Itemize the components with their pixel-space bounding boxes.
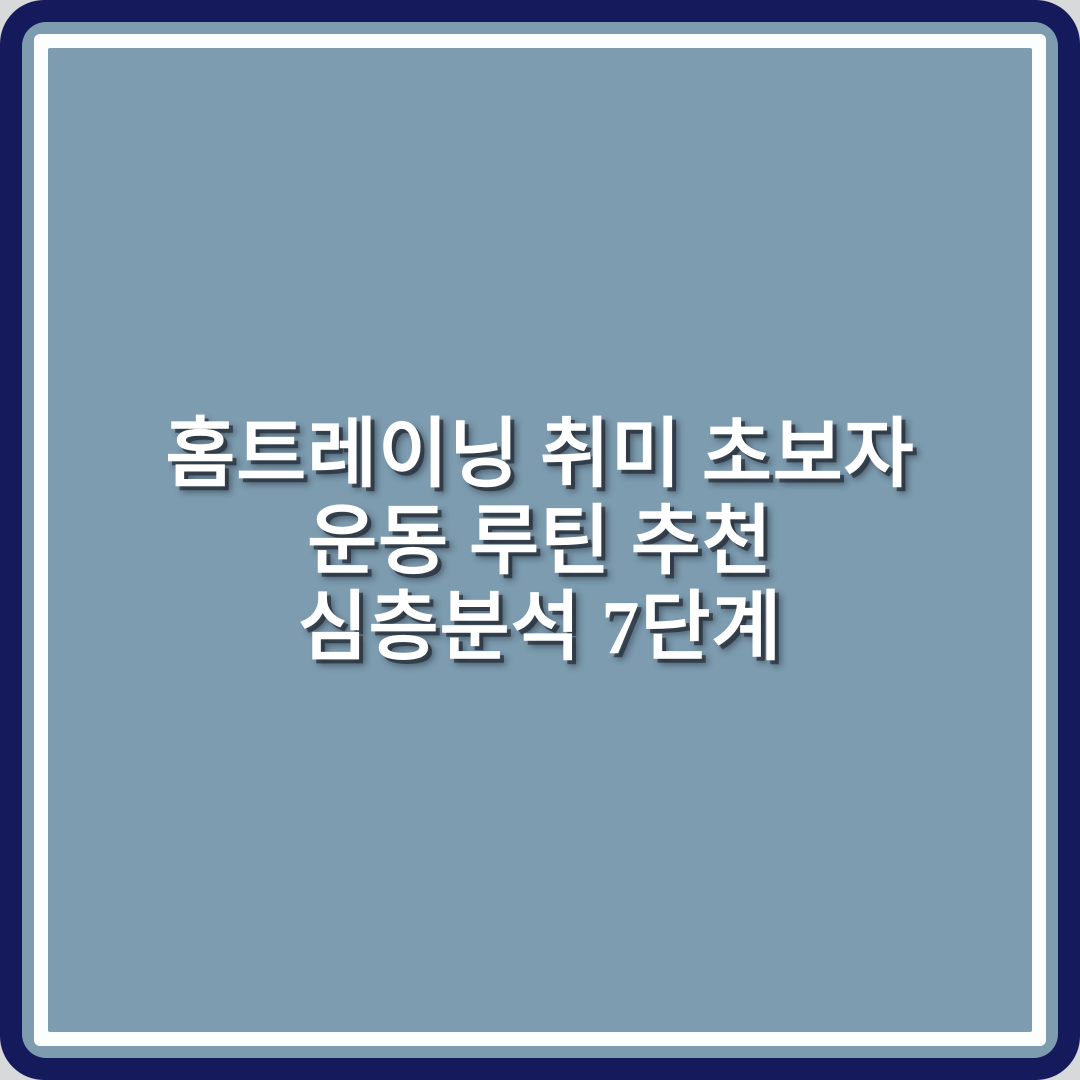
title-line-3: 심층분석 7단계 — [74, 585, 1006, 672]
title-line-1: 홈트레이닝 취미 초보자 — [74, 412, 1006, 499]
card-inner-canvas: 홈트레이닝 취미 초보자 운동 루틴 추천 심층분석 7단계 — [48, 48, 1032, 1032]
title-line-2: 운동 루틴 추천 — [74, 499, 1006, 586]
card-mat-band: 홈트레이닝 취미 초보자 운동 루틴 추천 심층분석 7단계 — [22, 22, 1058, 1058]
card-white-inlay-band: 홈트레이닝 취미 초보자 운동 루틴 추천 심층분석 7단계 — [34, 34, 1046, 1046]
page-title: 홈트레이닝 취미 초보자 운동 루틴 추천 심층분석 7단계 — [48, 412, 1032, 672]
card-outer-frame: 홈트레이닝 취미 초보자 운동 루틴 추천 심층분석 7단계 — [0, 0, 1080, 1080]
